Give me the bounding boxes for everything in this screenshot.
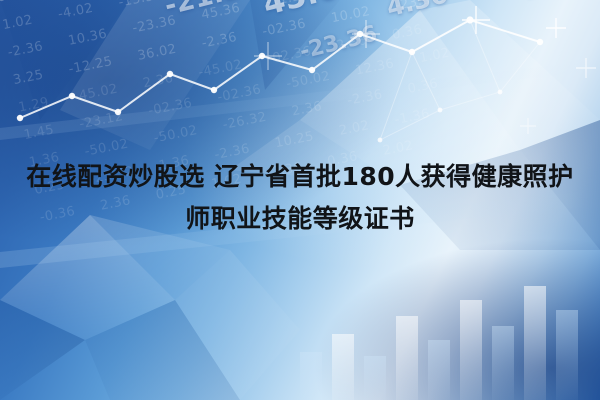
headline-line-1: 在线配资炒股选 辽宁省首批180人获得健康照护 [26,156,574,198]
headline-line-2: 师职业技能等级证书 [26,198,574,240]
headline: 在线配资炒股选 辽宁省首批180人获得健康照护 师职业技能等级证书 [0,156,600,240]
article-cover-image: 0.36-2.3612.36-25.3645.02-21.368.36 1.02… [0,0,600,400]
